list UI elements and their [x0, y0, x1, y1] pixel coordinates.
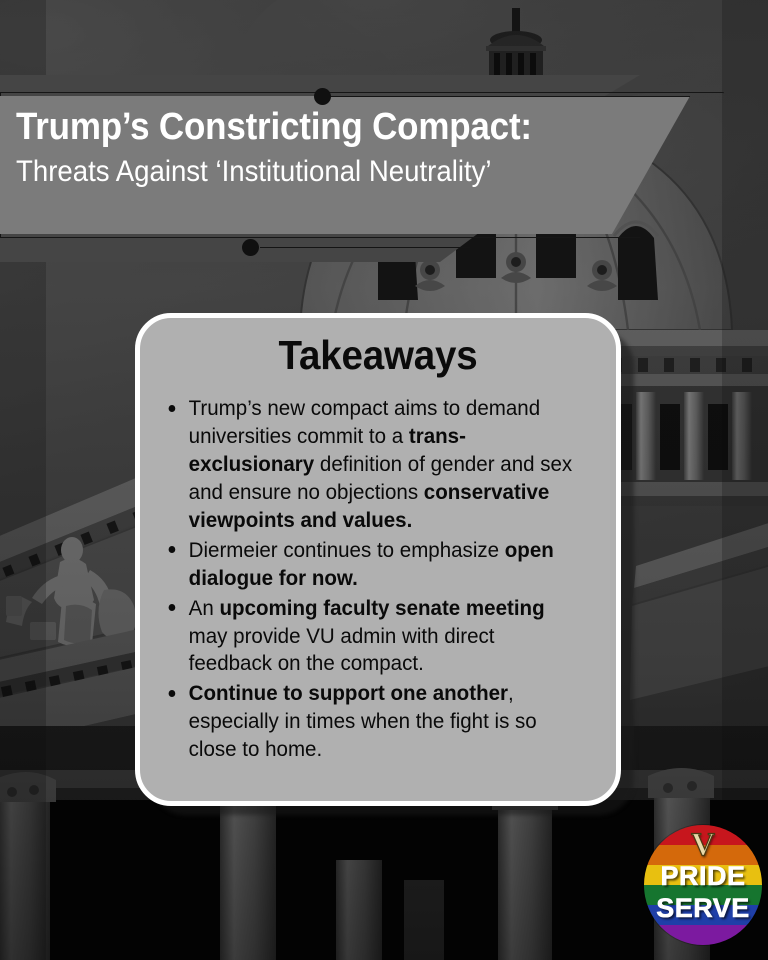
bullet-emphasis: upcoming faculty senate meeting [219, 596, 544, 620]
bullet-emphasis: Continue to support one another [189, 681, 508, 705]
header-banner: Trump’s Constricting Compact: Threats Ag… [0, 75, 768, 265]
logo-word-serve: SERVE [656, 895, 750, 923]
takeaways-bullet-list: Trump’s new compact aims to demand unive… [160, 395, 594, 764]
bullet-text: may provide VU admin with direct feedbac… [189, 624, 495, 676]
takeaways-card: Takeaways Trump’s new compact aims to de… [135, 313, 621, 806]
banner-top-dot [314, 88, 331, 105]
title-block: Trump’s Constricting Compact: Threats Ag… [16, 108, 636, 188]
page-subtitle: Threats Against ‘Institutional Neutralit… [16, 155, 586, 188]
banner-top-connector-line [330, 96, 690, 97]
logo-word-pride: PRIDE [660, 863, 745, 891]
bullet-text: Diermeier continues to emphasize [189, 538, 505, 562]
bullet-compact-demands: Trump’s new compact aims to demand unive… [160, 395, 574, 535]
bullet-diermeier-dialogue: Diermeier continues to emphasize open di… [160, 537, 574, 593]
logo-monogram: V [691, 829, 715, 862]
banner-bottom-dot [242, 239, 259, 256]
bullet-support-one-another: Continue to support one another, especia… [160, 680, 574, 764]
banner-bottom-connector-line [260, 247, 470, 248]
vanderbilt-pride-serve-logo: V PRIDE SERVE [644, 825, 762, 945]
bullet-faculty-senate: An upcoming faculty senate meeting may p… [160, 595, 574, 679]
page-title: Trump’s Constricting Compact: [16, 108, 586, 147]
bullet-text: An [189, 596, 220, 620]
bullet-text: Trump’s new compact aims to demand unive… [189, 396, 540, 448]
logo-text-block: V PRIDE SERVE [644, 825, 762, 945]
takeaways-heading: Takeaways [154, 332, 601, 379]
poster-canvas: Trump’s Constricting Compact: Threats Ag… [0, 0, 768, 960]
